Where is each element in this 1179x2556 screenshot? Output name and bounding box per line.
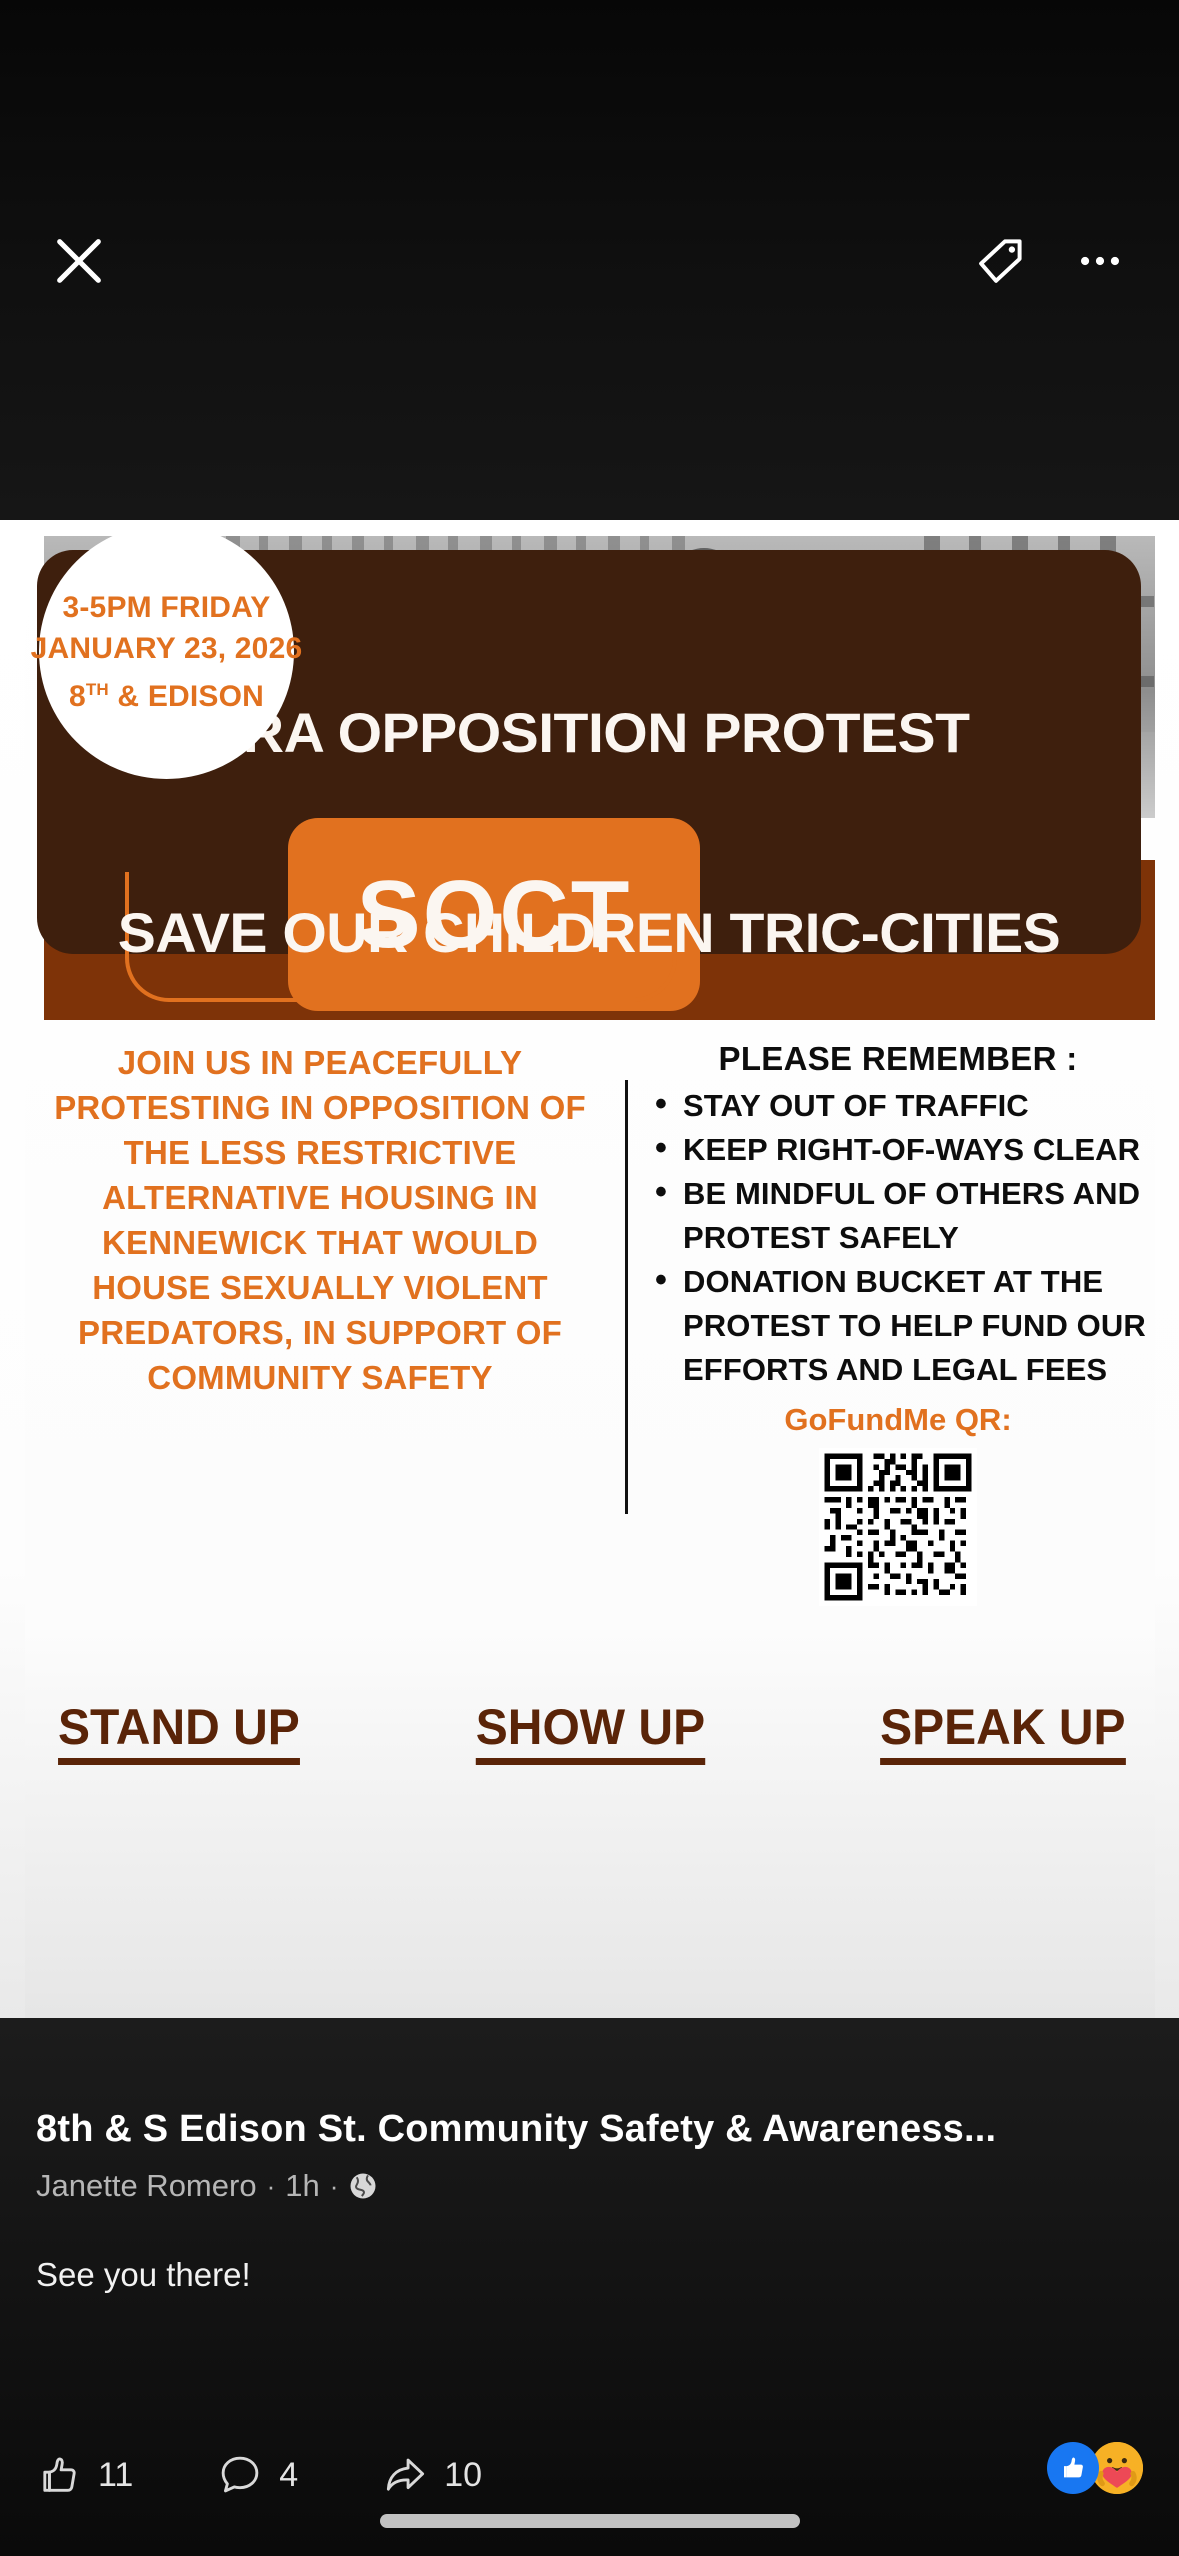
flyer-location-ordinal: TH [86, 680, 109, 699]
like-reaction-glyph [1058, 2453, 1088, 2483]
viewer-top-bar [0, 0, 1179, 520]
flyer-date-time: 3-5PM FRIDAY [62, 587, 270, 628]
qr-code-icon[interactable] [819, 1448, 977, 1606]
flyer-right-column: PLEASE REMEMBER : STAY OUT OF TRAFFIC KE… [649, 1040, 1147, 1606]
flyer-date-circle: 3-5PM FRIDAY JANUARY 23, 2026 8TH & EDIS… [39, 524, 294, 779]
close-icon [50, 232, 108, 290]
viewer-controls-row [0, 196, 1179, 326]
please-remember-heading: PLEASE REMEMBER : [649, 1040, 1147, 1078]
post-meta: Janette Romero · 1h · [36, 2168, 378, 2204]
share-button[interactable]: 10 [382, 2452, 482, 2498]
flyer-location-number: 8 [69, 680, 86, 713]
more-options-button[interactable] [1061, 222, 1139, 300]
flyer-acronym-expansion: SAVE OUR CHILDREN TRIC-CITIES [26, 900, 1152, 965]
reaction-badges[interactable] [1047, 2442, 1143, 2494]
tag-button[interactable] [961, 222, 1039, 300]
post-author[interactable]: Janette Romero [36, 2168, 257, 2204]
column-divider [625, 1080, 628, 1514]
flyer-date-location: 8TH & EDISON [69, 669, 264, 717]
qr-code-wrap [649, 1448, 1147, 1606]
cta-show-up: SHOW UP [475, 1698, 704, 1765]
more-options-icon [1072, 233, 1128, 289]
flyer-cta-row: STAND UP SHOW UP SPEAK UP [37, 1698, 1147, 1778]
flyer-left-paragraph: JOIN US IN PEACEFULLY PROTESTING IN OPPO… [51, 1040, 589, 1400]
comment-button[interactable]: 4 [217, 2452, 298, 2498]
viewer-right-controls [961, 222, 1139, 300]
globe-icon [348, 2171, 378, 2201]
comment-bubble-icon [217, 2452, 263, 2498]
share-count: 10 [444, 2456, 482, 2495]
flyer-body-columns: JOIN US IN PEACEFULLY PROTESTING IN OPPO… [37, 1040, 1147, 1680]
gofundme-label: GoFundMe QR: [649, 1402, 1147, 1438]
like-count: 11 [98, 2456, 133, 2495]
cta-stand-up: STAND UP [58, 1698, 300, 1765]
thumbs-up-icon [36, 2452, 82, 2498]
phone-screen: 49 LRA OPPOSITION PROTEST SAVE OUR CHILD… [0, 0, 1179, 2556]
qr-code-svg [819, 1448, 977, 1606]
flyer-date-day: JANUARY 23, 2026 [31, 628, 303, 669]
post-action-bar: 11 4 10 [0, 2430, 1179, 2520]
flyer-canvas: 49 LRA OPPOSITION PROTEST SAVE OUR CHILD… [25, 520, 1155, 2018]
list-item: KEEP RIGHT-OF-WAYS CLEAR [649, 1128, 1147, 1172]
tag-icon [972, 233, 1028, 289]
list-item: DONATION BUCKET AT THE PROTEST TO HELP F… [649, 1260, 1147, 1392]
post-details-panel: 8th & S Edison St. Community Safety & Aw… [0, 2018, 1179, 2556]
post-title[interactable]: 8th & S Edison St. Community Safety & Aw… [36, 2108, 1146, 2151]
post-caption: See you there! [36, 2256, 251, 2294]
post-image-flyer[interactable]: 49 LRA OPPOSITION PROTEST SAVE OUR CHILD… [0, 520, 1179, 2018]
like-button[interactable]: 11 [36, 2452, 133, 2498]
list-item: BE MINDFUL OF OTHERS AND PROTEST SAFELY [649, 1172, 1147, 1260]
meta-separator-2: · [330, 2171, 339, 2202]
comment-count: 4 [279, 2456, 298, 2495]
like-reaction-icon [1047, 2442, 1099, 2494]
home-indicator [380, 2514, 800, 2528]
share-arrow-icon [382, 2452, 428, 2498]
flyer-location-street: & EDISON [109, 680, 264, 713]
post-timestamp: 1h [285, 2168, 319, 2204]
reminder-list: STAY OUT OF TRAFFIC KEEP RIGHT-OF-WAYS C… [649, 1084, 1147, 1392]
cta-speak-up: SPEAK UP [880, 1698, 1125, 1765]
list-item: STAY OUT OF TRAFFIC [649, 1084, 1147, 1128]
close-button[interactable] [40, 222, 118, 300]
meta-separator-1: · [267, 2171, 276, 2202]
